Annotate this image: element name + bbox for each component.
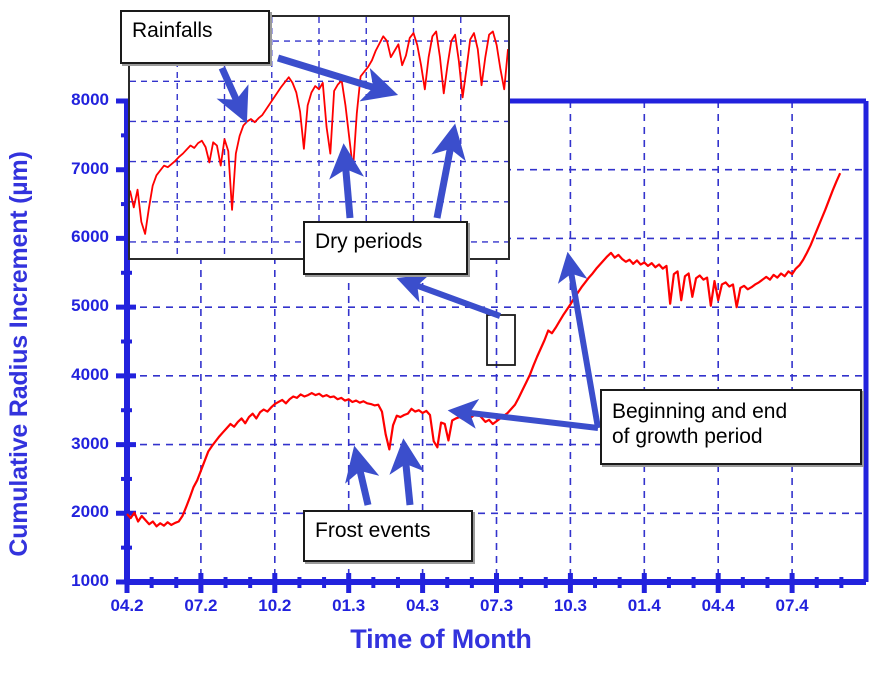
arrow-dry-periods-a [345,160,350,218]
arrow-dry-periods-b [437,140,452,218]
annotation-rainfalls: Rainfalls [120,10,270,64]
arrow-rainfalls-a [222,68,240,108]
arrow-growth-end [570,266,598,428]
arrow-frost-a [358,462,368,505]
chart-figure: 10002000300040005000600070008000 04.207.… [0,0,882,675]
annotation-arrows [0,0,882,675]
arrow-zoomrect-to-dryperiods [410,283,500,316]
annotation-dry-periods: Dry periods [303,221,468,275]
annotation-growth-period: Beginning and end of growth period [600,389,862,465]
arrow-frost-b [405,455,410,505]
annotation-frost-events: Frost events [303,510,473,562]
arrow-growth-begin [462,412,598,428]
arrow-rainfalls-b [278,58,382,90]
